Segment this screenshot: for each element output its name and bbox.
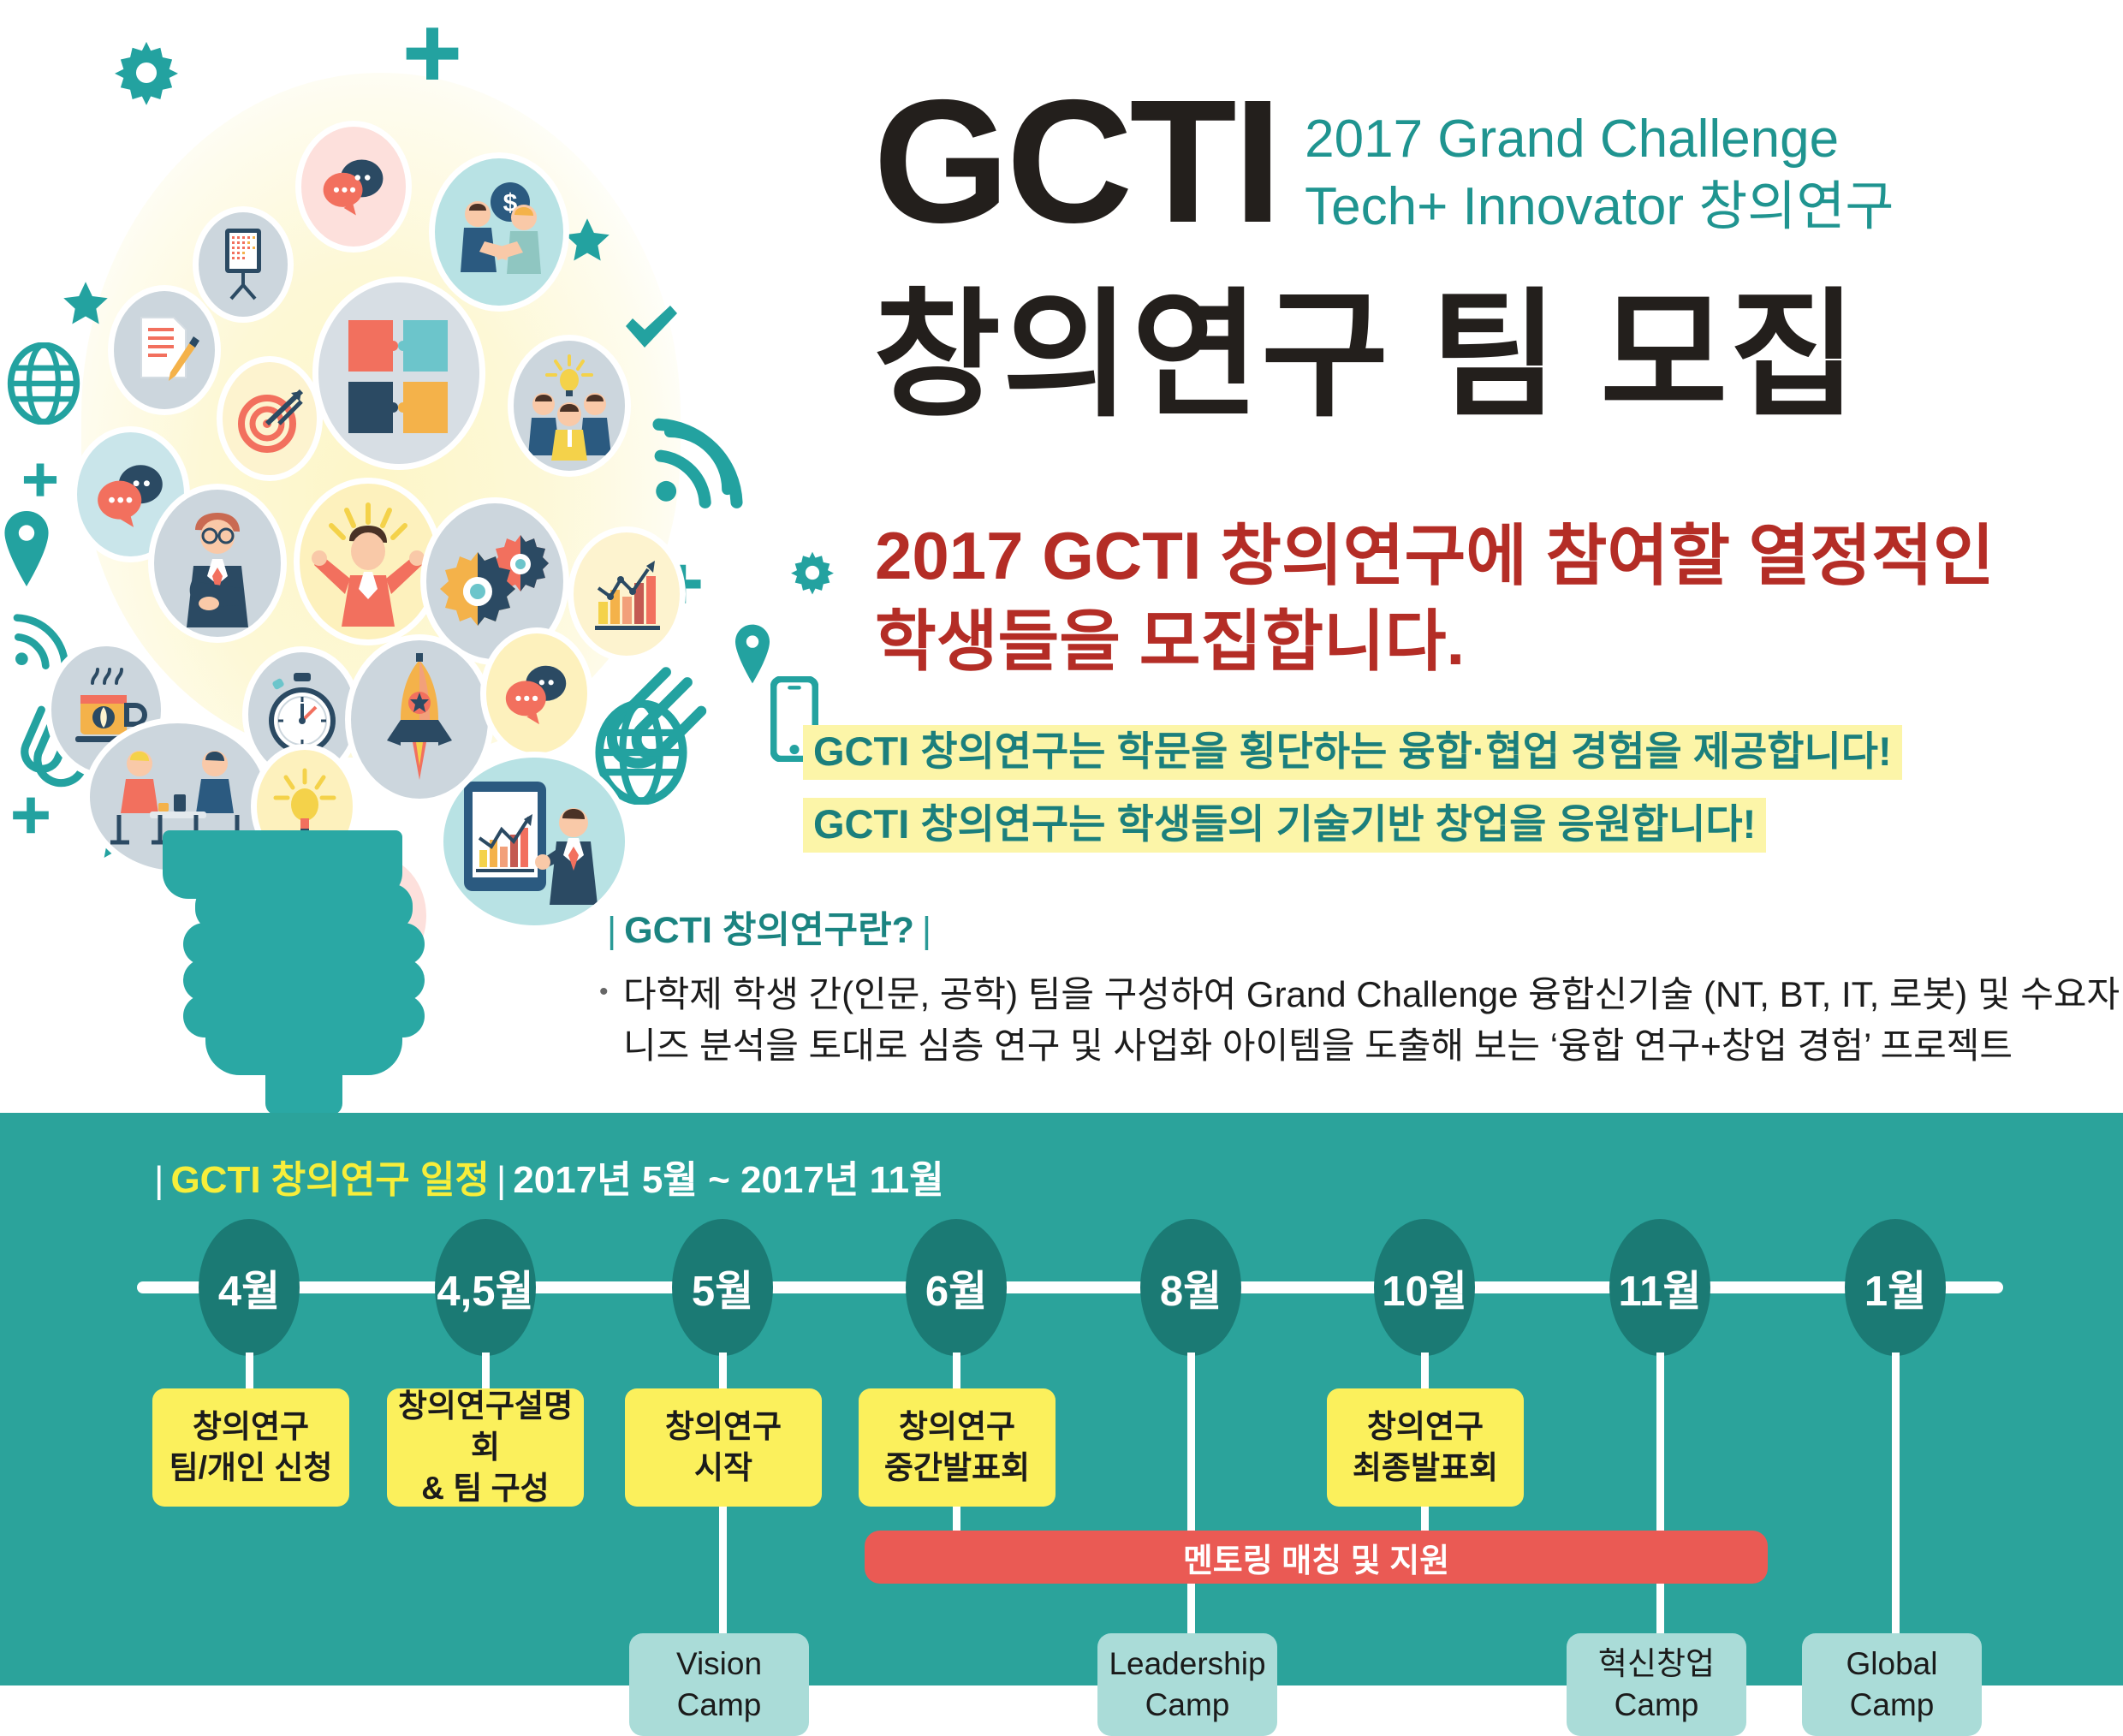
- timeline-axis: [137, 1281, 2003, 1293]
- camp-line-1: 혁신창업: [1598, 1644, 1715, 1685]
- timeline-bar-left: |: [147, 1159, 170, 1201]
- camp-box-3[interactable]: Global Camp: [1802, 1633, 1982, 1736]
- hero-section: $: [0, 0, 2123, 1113]
- globe-icon: [7, 342, 80, 425]
- milestone-line-2: 최종발표회: [1353, 1448, 1498, 1489]
- team-idea-icon: [514, 341, 625, 471]
- about-body-text: 다학제 학생 간(인문, 공학) 팀을 구성하여 Grand Challenge…: [599, 969, 2106, 1071]
- connector-line: [719, 1507, 727, 1635]
- milestone-line-1: 창의연구: [899, 1406, 1015, 1448]
- star-icon: [62, 280, 110, 328]
- connector-line: [1892, 1353, 1900, 1674]
- headline-block: GCTI 2017 Grand Challenge Tech+ Innovato…: [873, 81, 2106, 243]
- timeline-heading: |GCTI 창의연구 일정|2017년 5월 ~ 2017년 11월: [147, 1149, 944, 1204]
- tagline-line-1: 2017 Grand Challenge: [1305, 105, 1894, 173]
- handshake-money-icon: $: [435, 158, 563, 306]
- connector-line: [246, 1353, 253, 1390]
- milestone-box-1[interactable]: 창의연구설명회 & 팀 구성: [387, 1388, 584, 1507]
- milestone-line-2: & 팀 구성: [421, 1468, 549, 1509]
- subtitle-line-2: 학생들을 모집합니다.: [875, 599, 2073, 685]
- node-month-label: 4,5월: [437, 1257, 533, 1318]
- plus-icon: [21, 462, 59, 500]
- base-tip: [265, 1068, 342, 1115]
- map-pin-icon: [732, 623, 773, 685]
- wifi-icon: [651, 415, 745, 526]
- milestone-line-1: 창의연구: [1367, 1406, 1484, 1448]
- mentoring-bar-label: 멘토링 매칭 및 지원: [1183, 1534, 1449, 1581]
- gcti-logo-text: GCTI: [873, 81, 1279, 243]
- puzzle-pieces-icon: [318, 282, 479, 464]
- milestone-box-2[interactable]: 창의연구 시작: [625, 1388, 822, 1507]
- milestone-line-2: 시작: [694, 1448, 752, 1489]
- about-heading-text: GCTI 창의연구란?: [624, 910, 914, 951]
- connector-line: [1656, 1353, 1664, 1674]
- timeline-node-1[interactable]: 4,5월: [435, 1219, 536, 1356]
- about-heading: |GCTI 창의연구란?|: [599, 901, 939, 954]
- node-month-label: 8월: [1160, 1257, 1222, 1318]
- milestone-line-1: 창의연구: [665, 1406, 782, 1448]
- page-title: 창의연구 팀 모집: [873, 287, 1858, 425]
- growth-chart-icon: [574, 532, 680, 656]
- milestone-line-2: 중간발표회: [884, 1448, 1030, 1489]
- camp-box-0[interactable]: Vision Camp: [629, 1633, 809, 1736]
- about-body-line-1: 다학제 학생 간(인문, 공학) 팀을 구성하여 Grand Challenge…: [623, 969, 2106, 1020]
- timeline-bar-mid: |: [490, 1159, 513, 1201]
- rocket-icon: [351, 640, 488, 799]
- milestone-box-0[interactable]: 창의연구 팀/개인 신청: [152, 1388, 349, 1507]
- camp-box-2[interactable]: 혁신창업 Camp: [1567, 1633, 1746, 1736]
- subtitle-line-1: 2017 GCTI 창의연구에 참여할 열정적인: [875, 514, 2073, 599]
- camp-line-1: Leadership: [1109, 1644, 1265, 1685]
- heading-bar-left: |: [599, 910, 624, 951]
- presentation-board-icon: [199, 212, 288, 317]
- lightbulb-base: [163, 830, 445, 1113]
- milestone-line-1: 창의연구: [193, 1406, 309, 1448]
- timeline-node-6[interactable]: 11월: [1609, 1219, 1710, 1356]
- timeline-node-0[interactable]: 4월: [199, 1219, 300, 1356]
- chat-bubble-icon: [301, 127, 406, 247]
- timeline-node-5[interactable]: 10월: [1374, 1219, 1475, 1356]
- camp-line-2: Camp: [677, 1685, 762, 1726]
- camp-line-1: Global: [1846, 1644, 1938, 1685]
- star-icon: [563, 217, 611, 265]
- celebrating-person-icon: [300, 484, 437, 639]
- timeline-heading-range: 2017년 5월 ~ 2017년 11월: [513, 1159, 943, 1201]
- node-month-label: 5월: [692, 1257, 753, 1318]
- page-subtitle: 2017 GCTI 창의연구에 참여할 열정적인 학생들을 모집합니다.: [875, 514, 2073, 685]
- node-month-label: 4월: [218, 1257, 280, 1318]
- businessman-icon: [154, 490, 281, 637]
- timeline-node-3[interactable]: 6월: [906, 1219, 1007, 1356]
- node-month-label: 10월: [1382, 1257, 1467, 1318]
- camp-box-1[interactable]: Leadership Camp: [1097, 1633, 1277, 1736]
- heading-bar-right: |: [914, 910, 939, 951]
- mentoring-bar[interactable]: 멘토링 매칭 및 지원: [865, 1531, 1768, 1584]
- plus-icon: [10, 796, 51, 837]
- milestone-box-3[interactable]: 창의연구 중간발표회: [859, 1388, 1056, 1507]
- connector-line: [719, 1353, 727, 1390]
- gcti-tagline: 2017 Grand Challenge Tech+ Innovator 창의연…: [1305, 105, 1894, 241]
- bullet-mark: •: [599, 974, 609, 1011]
- gear-icon: [110, 36, 183, 110]
- camp-line-2: Camp: [1145, 1685, 1230, 1726]
- connector-line: [953, 1353, 960, 1390]
- about-body-line-2: 니즈 분석을 토대로 심층 연구 및 사업화 아이템을 도출해 보는 ‘융합 연…: [623, 1020, 2106, 1072]
- check-icon: [621, 301, 681, 354]
- about-body: • 다학제 학생 간(인문, 공학) 팀을 구성하여 Grand Challen…: [599, 969, 2106, 1071]
- gear-icon: [788, 548, 837, 597]
- map-pin-icon: [0, 509, 53, 588]
- camp-line-2: Camp: [1850, 1685, 1935, 1726]
- timeline-node-7[interactable]: 1월: [1845, 1219, 1946, 1356]
- timeline-section: |GCTI 창의연구 일정|2017년 5월 ~ 2017년 11월 4월 4,…: [0, 1113, 2123, 1685]
- tagline-line-2: Tech+ Innovator 창의연구: [1305, 173, 1894, 241]
- chat-bubble-icon: [486, 633, 587, 753]
- milestone-box-4[interactable]: 창의연구 최종발표회: [1327, 1388, 1524, 1507]
- target-arrow-icon: [223, 362, 317, 475]
- timeline-heading-label: GCTI 창의연구 일정: [170, 1159, 489, 1201]
- connector-line: [482, 1353, 490, 1390]
- globe-icon: [591, 700, 692, 805]
- plus-icon: [402, 26, 462, 86]
- timeline-node-2[interactable]: 5월: [672, 1219, 773, 1356]
- node-month-label: 11월: [1619, 1257, 1702, 1318]
- timeline-node-4[interactable]: 8월: [1140, 1219, 1241, 1356]
- camp-line-1: Vision: [676, 1644, 762, 1685]
- highlight-line-1: GCTI 창의연구는 학문을 횡단하는 융합·협업 경험을 제공합니다!: [803, 725, 1902, 780]
- node-month-label: 6월: [925, 1257, 987, 1318]
- node-month-label: 1월: [1864, 1257, 1926, 1318]
- milestone-line-1: 창의연구설명회: [390, 1386, 580, 1468]
- document-pencil-icon: [114, 291, 215, 409]
- highlight-line-2: GCTI 창의연구는 학생들의 기술기반 창업을 응원합니다!: [803, 798, 1766, 853]
- milestone-line-2: 팀/개인 신청: [169, 1448, 333, 1489]
- connector-line: [1421, 1353, 1429, 1390]
- camp-line-2: Camp: [1615, 1685, 1699, 1726]
- tablet-chart-presenter-icon: [443, 758, 625, 925]
